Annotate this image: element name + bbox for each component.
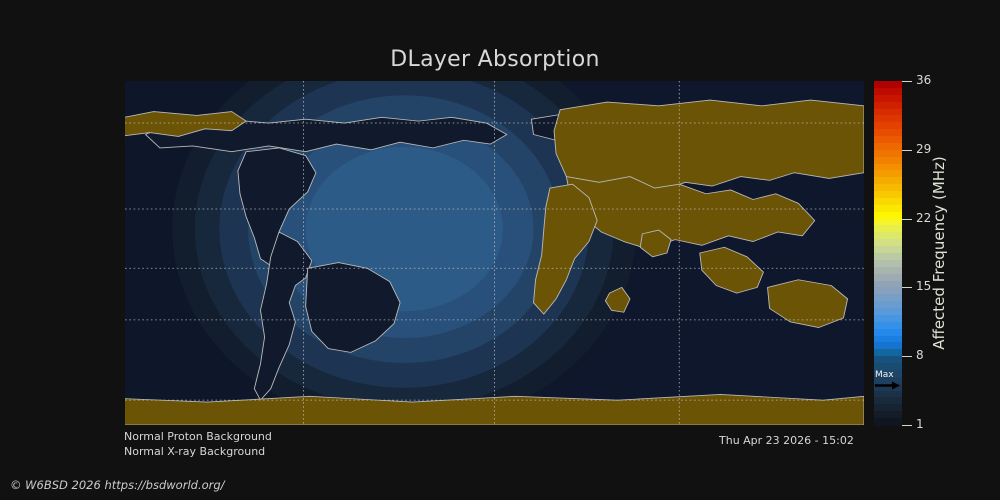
credit-footer: © W6BSD 2026 https://bsdworld.org/ [10, 478, 225, 492]
colorbar-tick [902, 425, 912, 426]
colorbar-segment [874, 418, 902, 425]
colorbar-tick-label: 1 [916, 417, 924, 431]
proton-background-note: Normal Proton Background [124, 430, 272, 443]
max-label: Max [875, 370, 894, 380]
colorbar-tick-label: 8 [916, 348, 924, 362]
page-title: DLayer Absorption [0, 47, 990, 72]
timestamp: Thu Apr 23 2026 - 15:02 [719, 434, 854, 447]
colorbar-tick [902, 219, 912, 220]
colorbar[interactable]: Max [874, 81, 902, 425]
colorbar-tick [902, 287, 912, 288]
colorbar-max-marker: Max [874, 370, 902, 396]
colorbar-tick [902, 356, 912, 357]
colorbar-axis-label: Affected Frequency (MHz) [928, 81, 950, 425]
colorbar-tick [902, 150, 912, 151]
world-map[interactable] [125, 81, 864, 425]
map-canvas [125, 81, 864, 425]
dlayer-absorption-screen: DLayer Absorption [0, 0, 1000, 500]
colorbar-tick [902, 81, 912, 82]
max-arrow-icon [875, 381, 900, 390]
xray-background-note: Normal X-ray Background [124, 445, 265, 458]
